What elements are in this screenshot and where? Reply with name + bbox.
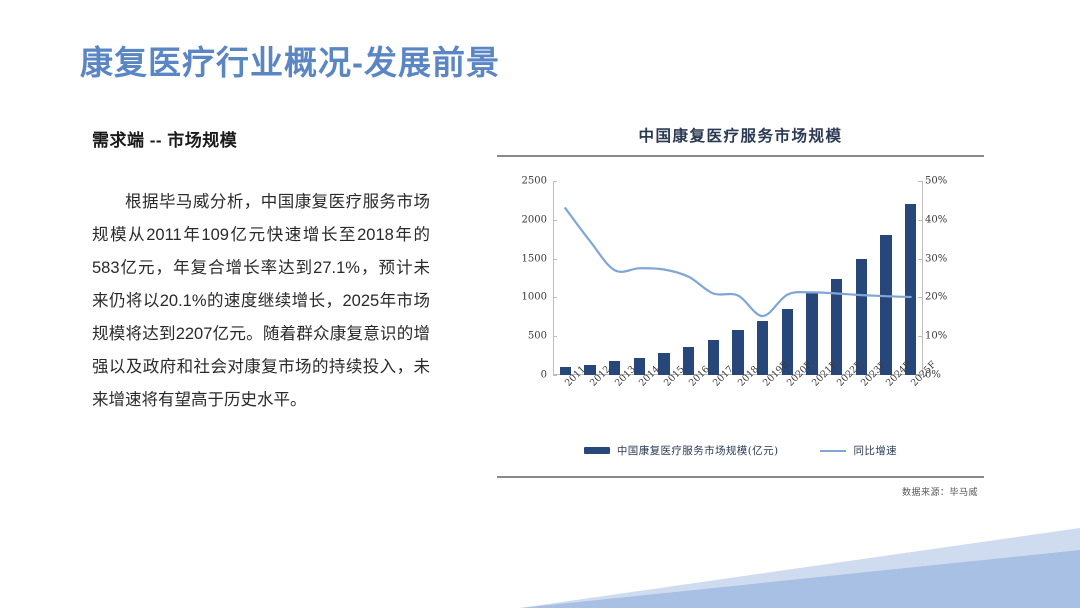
legend-swatch-line-icon [820, 450, 846, 452]
y-axis-left-tick-label: 2000 [522, 214, 547, 225]
page-title: 康复医疗行业概况-发展前景 [80, 36, 500, 84]
y-axis-left-tick-label: 2500 [522, 176, 547, 187]
y-axis-right-labels: 0%10%20%30%40%50% [925, 181, 971, 375]
slide: 康复医疗行业概况-发展前景 需求端 -- 市场规模 根据毕马威分析，中国康复医疗… [0, 0, 1080, 608]
legend-item-line: 同比增速 [820, 443, 897, 458]
plot-series-container [553, 181, 923, 375]
x-axis-labels: 201120122013201420152016201720182019E202… [553, 375, 923, 435]
decorative-band [520, 488, 1080, 608]
y-axis-right-tick-label: 20% [925, 292, 947, 303]
growth-rate-line [553, 181, 923, 375]
y-axis-right-tick-label: 10% [925, 331, 947, 342]
section-subheading: 需求端 -- 市场规模 [92, 126, 237, 151]
body-paragraph: 根据毕马威分析，中国康复医疗服务市场规模从2011年109亿元快速增长至2018… [92, 186, 430, 417]
chart-plot-area: 05001000150020002500 0%10%20%30%40%50% 2… [505, 173, 975, 435]
chart-title: 中国康复医疗服务市场规模 [497, 124, 984, 146]
chart-rule-top [497, 155, 984, 157]
chart-source: 数据来源：毕马威 [902, 485, 978, 498]
legend-swatch-bar-icon [584, 447, 610, 454]
y-axis-left-tick-label: 0 [541, 370, 547, 381]
y-axis-left-labels: 05001000150020002500 [505, 181, 547, 375]
legend-label-line: 同比增速 [853, 443, 897, 458]
legend-label-bar: 中国康复医疗服务市场规模(亿元) [617, 443, 779, 458]
chart-card: 中国康复医疗服务市场规模 05001000150020002500 0%10%2… [497, 118, 984, 500]
y-axis-left-tick-label: 500 [528, 331, 547, 342]
y-axis-left-tick-label: 1500 [522, 253, 547, 264]
chart-rule-bottom [497, 476, 984, 478]
y-axis-left-tick-label: 1000 [522, 292, 547, 303]
y-axis-right-tick-label: 40% [925, 214, 947, 225]
legend-item-bar: 中国康复医疗服务市场规模(亿元) [584, 443, 779, 458]
y-axis-right-tick-label: 30% [925, 253, 947, 264]
y-axis-right-tick-label: 50% [925, 176, 947, 187]
chart-legend: 中国康复医疗服务市场规模(亿元) 同比增速 [497, 443, 984, 458]
